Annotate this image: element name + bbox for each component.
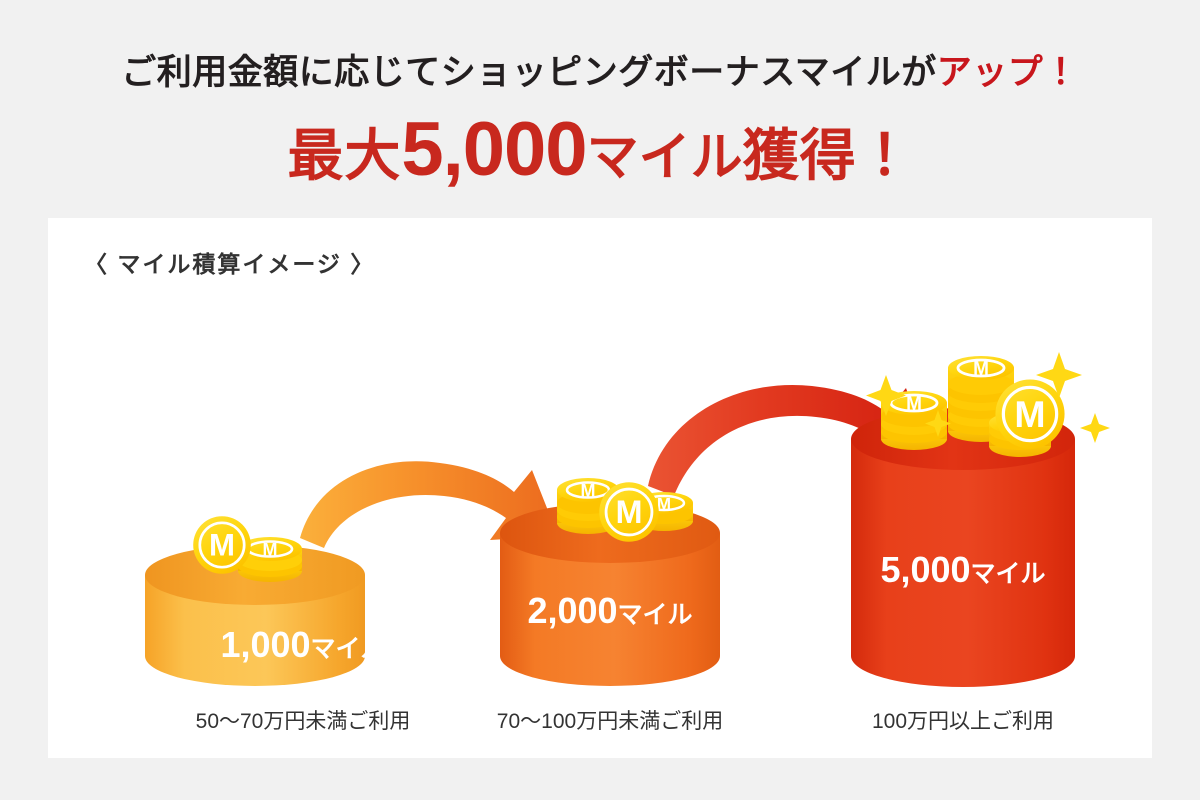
- subheadline-plain: ご利用金額に応じてショッピングボーナスマイルが: [121, 53, 936, 92]
- tier-1-value-number: 1,000: [220, 624, 310, 665]
- figure-svg: M: [48, 218, 1152, 758]
- tier-2-value-label: 2,000マイル: [500, 593, 720, 629]
- tier-2-value-unit: マイル: [618, 601, 693, 629]
- tier-2-caption: 70〜100万円未満ご利用: [440, 705, 780, 735]
- coin-front: [995, 379, 1064, 448]
- subheadline: ご利用金額に応じてショッピングボーナスマイルがアップ！: [0, 44, 1200, 95]
- main-headline-unit: マイル: [587, 129, 743, 187]
- main-headline-bang: ！: [857, 124, 913, 187]
- tier-1-value-unit: マイル: [311, 635, 386, 663]
- svg-text:M: M: [906, 394, 922, 415]
- mile-accrual-figure: M: [48, 218, 1152, 758]
- main-headline-prefix: 最大: [287, 124, 401, 187]
- tier-2-value-number: 2,000: [527, 590, 617, 631]
- tier-3-value-label: 5,000マイル: [853, 552, 1073, 588]
- main-headline-amount: 5,000: [401, 107, 586, 192]
- tier-1-caption: 50〜70万円未満ご利用: [133, 705, 473, 735]
- coin-front: [193, 516, 251, 574]
- tier-3-caption: 100万円以上ご利用: [793, 705, 1133, 735]
- tier-3-value-number: 5,000: [880, 549, 970, 590]
- svg-text:M: M: [657, 494, 671, 513]
- tier-1-value-label: 1,000マイル: [193, 627, 413, 663]
- svg-text:M: M: [973, 359, 989, 380]
- main-headline: 最大5,000マイル獲得！: [0, 112, 1200, 188]
- mile-image-card: 〈 マイル積算イメージ 〉: [48, 218, 1152, 758]
- headline-area: ご利用金額に応じてショッピングボーナスマイルがアップ！ 最大5,000マイル獲得…: [0, 0, 1200, 218]
- subheadline-accent: アップ！: [937, 53, 1079, 92]
- tier-3-value-unit: マイル: [971, 560, 1046, 588]
- coin-front: [599, 482, 659, 542]
- main-headline-suffix: 獲得: [743, 124, 857, 187]
- svg-text:M: M: [263, 540, 278, 560]
- svg-text:M: M: [581, 481, 596, 501]
- sparkle-icon: [1080, 413, 1110, 443]
